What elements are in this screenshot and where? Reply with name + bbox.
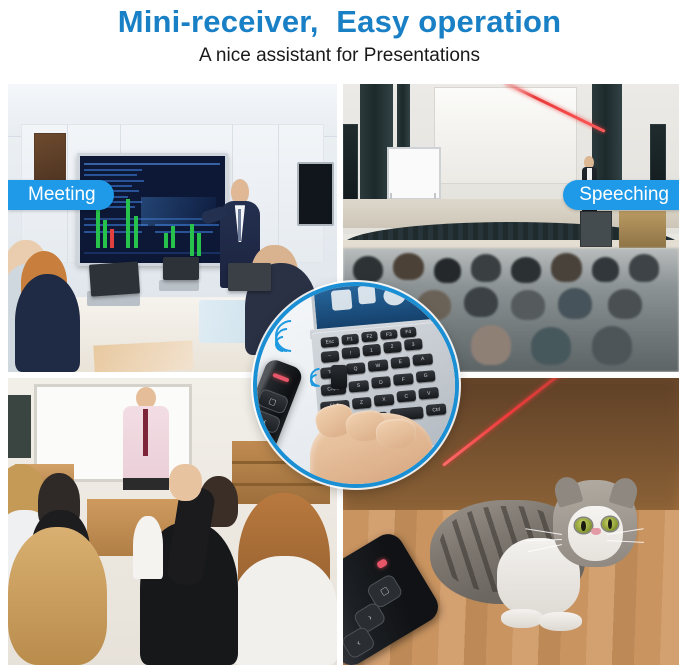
signal-icon-remote bbox=[275, 318, 311, 352]
page-title: Mini-receiver, Easy operation bbox=[0, 0, 679, 41]
signal-icon-receiver bbox=[310, 365, 332, 387]
usb-receiver bbox=[331, 365, 347, 389]
cat bbox=[430, 473, 638, 622]
badge-speeching: Speeching bbox=[563, 180, 679, 210]
projection-screen bbox=[434, 87, 577, 184]
product-closeup-inset: Esc F1 F2 F3 F4 ~ ! 1 2 3 Tab Q W E A Ca… bbox=[253, 282, 459, 488]
badge-meeting: Meeting bbox=[8, 180, 114, 210]
teacher bbox=[123, 387, 169, 490]
raised-hand bbox=[169, 464, 202, 501]
header: Mini-receiver, Easy operation A nice ass… bbox=[0, 0, 679, 82]
flip-board bbox=[387, 147, 441, 200]
cat-head bbox=[553, 480, 636, 567]
page-subtitle: A nice assistant for Presentations bbox=[0, 41, 679, 67]
